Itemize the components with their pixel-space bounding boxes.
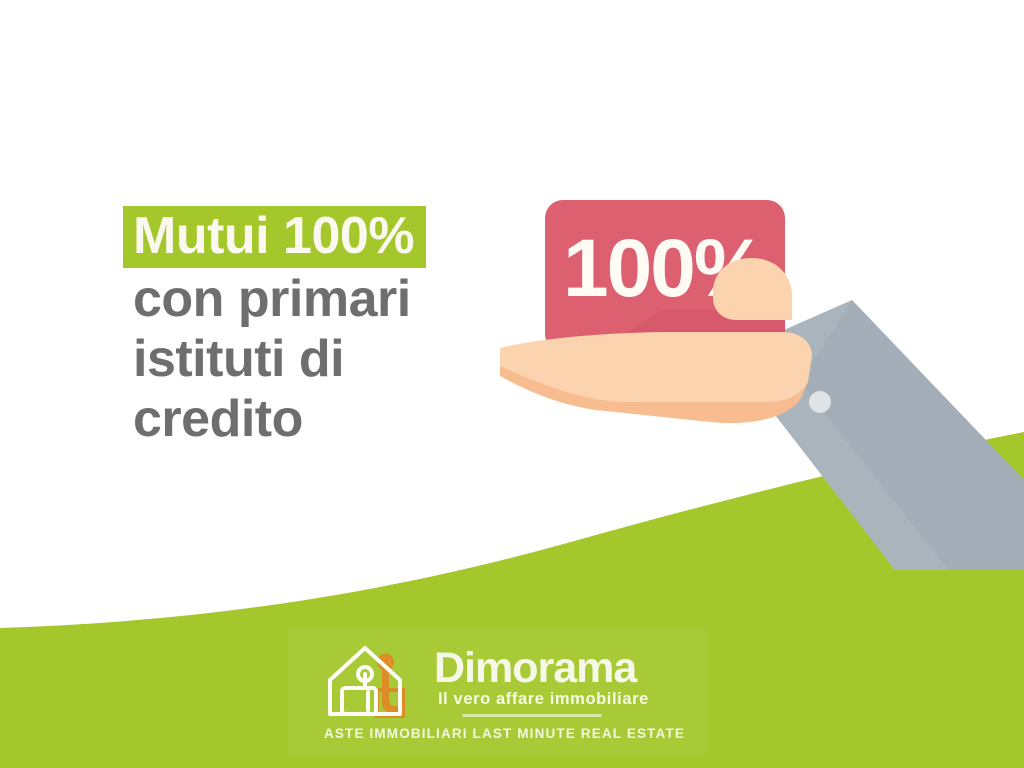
- banner-canvas: Mutui 100% con primari istituti di credi…: [0, 0, 1024, 768]
- logo-wordmark: Dimorama: [434, 646, 636, 690]
- headline-line-3: istituti di: [125, 330, 555, 388]
- headline-line-2: con primari: [125, 270, 555, 328]
- headline-line-4: credito: [125, 390, 555, 448]
- logo-tagline: Il vero affare immobiliare: [438, 690, 649, 708]
- headline-block: Mutui 100% con primari istituti di credi…: [125, 206, 555, 448]
- headline-highlight-text: Mutui 100%: [123, 206, 426, 268]
- house-logo-icon: [322, 640, 426, 726]
- headline-highlight-line: Mutui 100%: [125, 206, 555, 268]
- hand-holding-percent-card-illustration: 100%: [500, 170, 1024, 570]
- cuff-button: [809, 391, 831, 413]
- brand-logo[interactable]: Dimorama Il vero affare immobiliare ASTE…: [322, 632, 672, 754]
- logo-caption: ASTE IMMOBILIARI LAST MINUTE REAL ESTATE: [324, 726, 672, 741]
- logo-underline-rule: [462, 714, 602, 717]
